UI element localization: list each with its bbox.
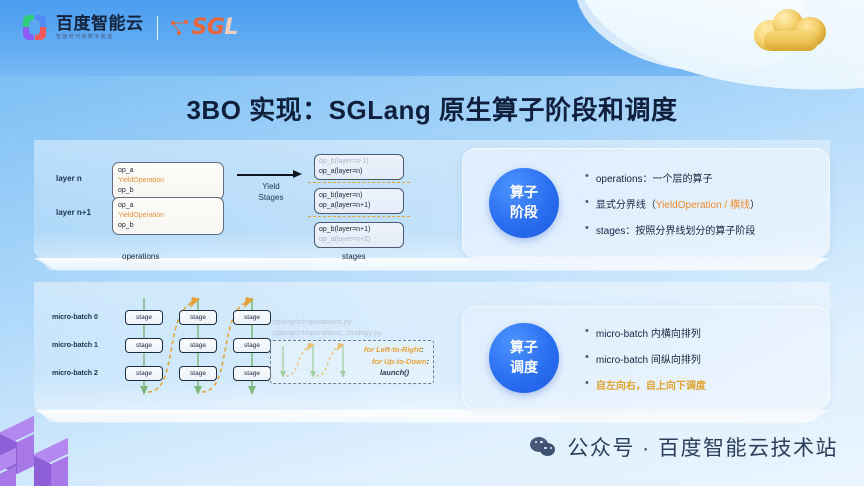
slide-root: 百度智能云 智能时代的数字底座 SGL 3BO 实现：SGLang 原生算子阶段… [0, 0, 864, 486]
bullet-dot-icon: • [585, 171, 589, 182]
card1-bullet-3-text: stages：按照分界线划分的算子阶段 [596, 226, 755, 237]
arrow-caption-line1: Yield [234, 182, 308, 193]
brand-bar: 百度智能云 智能时代的数字底座 SGL [22, 14, 238, 41]
badge-line-1: 算子 [510, 183, 538, 203]
operations-box-layer-n: op_a YieldOperation op_b [112, 162, 224, 200]
op-line-yield: YieldOperation [118, 211, 218, 221]
info-card-operator-stage: 算子 阶段 • operations：一个层的算子 • 显式分界线（YieldO… [462, 148, 830, 258]
diagram-operations-to-stages: layer n layer n+1 op_a YieldOperation op… [56, 152, 446, 262]
footer-text: 公众号 · 百度智能云技术站 [567, 432, 838, 462]
op-line-3: op_b [118, 221, 218, 231]
code-snippet-text: for Left-to-Right: for Up-to-Down: launc… [364, 344, 429, 379]
operations-box-layer-n1: op_a YieldOperation op_b [112, 197, 224, 235]
baidu-cloud-name: 百度智能云 [56, 15, 144, 32]
card2-bullet-1-text: micro-batch 内横向排列 [596, 329, 701, 340]
bullet-dot-icon: • [585, 352, 589, 363]
sgl-logo[interactable]: SGL [171, 15, 238, 40]
stage-divider-1 [308, 182, 410, 183]
bullet-dot-icon: • [585, 223, 589, 234]
bullet-dot-icon: • [585, 378, 589, 389]
card2-bullet-3: • 自左向右，自上向下调度 [585, 377, 815, 392]
op-line-1: op_a [118, 166, 218, 176]
microbatch-label-2: micro-batch 2 [52, 370, 98, 377]
op-line-1: op_a [118, 201, 218, 211]
stage-cell-r2c1: stage [179, 366, 217, 381]
stage-cell-r0c2: stage [233, 310, 271, 325]
footer-wechat-credit: 公众号 · 百度智能云技术站 [530, 432, 838, 462]
brand-divider [157, 16, 158, 40]
diagram-microbatch-schedule: micro-batch 0 micro-batch 1 micro-batch … [52, 296, 452, 406]
card1-bullet-2-highlight: YieldOperation / 横线 [656, 200, 750, 211]
code-colon-2: : [427, 357, 430, 366]
card1-bullet-1-text: operations：一个层的算子 [596, 174, 713, 185]
code-kw-2: for [372, 357, 382, 366]
sgl-text-primary: SG [192, 15, 225, 40]
code-colon-1: : [421, 345, 424, 354]
file-path-1: sglang/srt/operations.py [272, 316, 382, 327]
badge-line-2: 调度 [510, 358, 538, 378]
stage-cell-r0c0: stage [125, 310, 163, 325]
op-line-yield: YieldOperation [118, 176, 218, 186]
baidu-cloud-logo[interactable]: 百度智能云 智能时代的数字底座 [22, 14, 144, 41]
arrow-caption-line2: Stages [234, 193, 308, 204]
bullet-dot-icon: • [585, 197, 589, 208]
stage-divider-2 [308, 216, 410, 217]
stage-line-bottom: op_a(layer=n) [319, 167, 399, 177]
badge-line-2: 阶段 [510, 203, 538, 223]
stage-cell-r0c1: stage [179, 310, 217, 325]
card2-bullet-3-text: 自左向右，自上向下调度 [596, 377, 706, 392]
card1-bullet-1: • operations：一个层的算子 [585, 170, 815, 185]
op-line-3: op_b [118, 186, 218, 196]
layer-label-n1: layer n+1 [56, 208, 91, 217]
card2-bullet-list: • micro-batch 内横向排列 • micro-batch 间纵向排列 … [585, 307, 815, 409]
stage-box-3: op_b(layer=n+1) op_a(layer=n+2) [314, 222, 404, 248]
card2-bullet-1: • micro-batch 内横向排列 [585, 325, 815, 340]
section-divider-band-2 [34, 410, 830, 423]
baidu-cloud-tagline: 智能时代的数字底座 [56, 35, 144, 40]
bullet-dot-icon: • [585, 326, 589, 337]
badge-line-1: 算子 [510, 338, 538, 358]
card2-bullet-2: • micro-batch 间纵向排列 [585, 351, 815, 366]
source-file-paths: sglang/srt/operations.py sglang/srt/oper… [272, 316, 382, 339]
card2-bullet-2-text: micro-batch 间纵向排列 [596, 355, 701, 366]
stage-cell-r1c0: stage [125, 338, 163, 353]
badge-operator-schedule: 算子 调度 [489, 323, 559, 393]
cloud-3d-decoration [754, 6, 828, 52]
wechat-icon [530, 437, 556, 457]
card1-bullet-2-post: ） [750, 200, 760, 211]
stage-box-1: op_b(layer=n-1) op_a(layer=n) [314, 154, 404, 180]
stage-line-top: op_b(layer=n+1) [319, 225, 399, 235]
stage-line-top: op_b(layer=n-1) [319, 157, 399, 167]
baidu-hexagon-icon [22, 14, 47, 41]
stage-box-2: op_b(layer=n) op_a(layer=n+1) [314, 188, 404, 214]
arrow-head-icon [293, 170, 302, 178]
stage-line-bottom: op_a(layer=n+2) [319, 235, 399, 245]
stage-cell-r2c0: stage [125, 366, 163, 381]
card1-bullet-3: • stages：按照分界线划分的算子阶段 [585, 222, 815, 237]
code-kw-1: for [364, 345, 374, 354]
sgl-text-secondary: L [224, 15, 238, 40]
layer-label-n: layer n [56, 174, 82, 183]
code-launch-call: launch() [364, 367, 429, 379]
page-title: 3BO 实现：SGLang 原生算子阶段和调度 [0, 90, 864, 127]
stage-cell-r1c2: stage [233, 338, 271, 353]
code-val-1: Left-to-Right [376, 345, 421, 354]
stage-cell-r2c2: stage [233, 366, 271, 381]
code-val-2: Up-to-Down [384, 357, 426, 366]
stage-line-bottom: op_a(layer=n+1) [319, 201, 399, 211]
file-path-2: sglang/srt/operations_strategy.py [272, 327, 382, 338]
microbatch-label-1: micro-batch 1 [52, 342, 98, 349]
caption-operations: operations [122, 252, 159, 261]
badge-operator-stage: 算子 阶段 [489, 168, 559, 238]
yield-stages-arrow: Yield Stages [234, 170, 308, 204]
card1-bullet-2-pre: 显式分界线（ [596, 200, 656, 211]
card1-bullet-2: • 显式分界线（YieldOperation / 横线） [585, 196, 815, 211]
caption-stages: stages [342, 252, 366, 261]
card1-bullet-list: • operations：一个层的算子 • 显式分界线（YieldOperati… [585, 149, 815, 257]
sgl-graph-icon [171, 20, 189, 36]
stage-line-top: op_b(layer=n) [319, 191, 399, 201]
stage-cell-r1c1: stage [179, 338, 217, 353]
info-card-operator-schedule: 算子 调度 • micro-batch 内横向排列 • micro-batch … [462, 306, 830, 410]
microbatch-label-0: micro-batch 0 [52, 314, 98, 321]
